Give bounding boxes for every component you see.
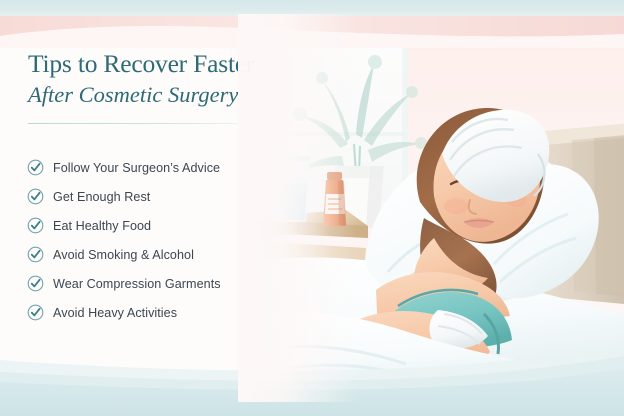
list-item-label: Eat Healthy Food: [53, 219, 151, 233]
list-item: Wear Compression Garments: [27, 269, 297, 298]
check-circle-icon: [27, 188, 44, 205]
headline-block: Tips to Recover Faster After Cosmetic Su…: [28, 50, 290, 124]
page-subtitle: After Cosmetic Surgery: [28, 80, 290, 109]
bottom-wave-svg: [0, 346, 624, 416]
list-item-label: Avoid Heavy Activities: [53, 306, 177, 320]
bottom-teal-wave: [0, 346, 624, 416]
list-item-label: Wear Compression Garments: [53, 277, 221, 291]
page-title: Tips to Recover Faster: [28, 50, 290, 79]
list-item: Follow Your Surgeon’s Advice: [27, 153, 297, 182]
list-item: Get Enough Rest: [27, 182, 297, 211]
list-item-label: Follow Your Surgeon’s Advice: [53, 161, 220, 175]
list-item: Eat Healthy Food: [27, 211, 297, 240]
list-item: Avoid Heavy Activities: [27, 298, 297, 327]
top-pink-wave: [0, 14, 624, 48]
list-item-label: Avoid Smoking & Alcohol: [53, 248, 194, 262]
title-divider: [28, 123, 266, 124]
recovery-tips-poster: Tips to Recover Faster After Cosmetic Su…: [0, 0, 624, 416]
list-item-label: Get Enough Rest: [53, 190, 150, 204]
check-circle-icon: [27, 275, 44, 292]
check-circle-icon: [27, 159, 44, 176]
check-circle-icon: [27, 217, 44, 234]
top-pink-wave-svg: [0, 14, 624, 48]
tips-list: Follow Your Surgeon’s Advice Get Enough …: [27, 153, 297, 327]
list-item: Avoid Smoking & Alcohol: [27, 240, 297, 269]
check-circle-icon: [27, 304, 44, 321]
check-circle-icon: [27, 246, 44, 263]
